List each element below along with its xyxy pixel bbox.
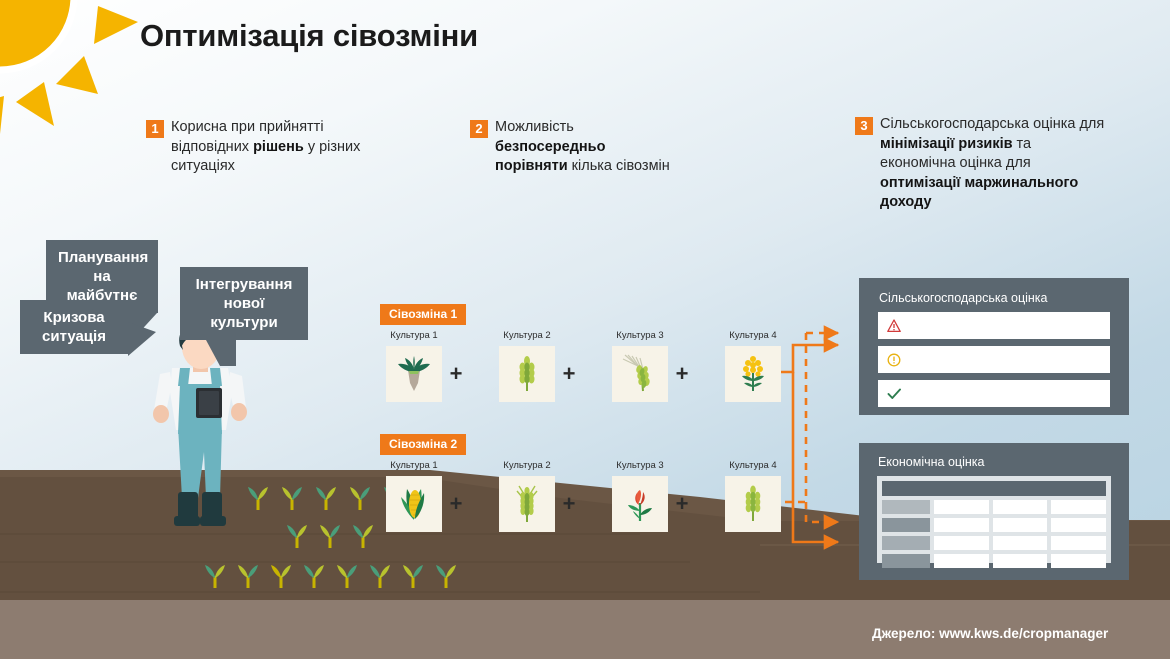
economic-row-label <box>882 536 930 550</box>
crop-cell-r1-c3[interactable]: Культура 3 <box>612 330 668 402</box>
crop-icon-box-r1-c2 <box>499 346 555 402</box>
crop-cell-r1-c2[interactable]: Культура 2 <box>499 330 555 402</box>
economic-cell <box>993 536 1048 550</box>
economic-cell <box>934 554 989 568</box>
crop-icon-box-r2-c1 <box>386 476 442 532</box>
crop-icon-box-r1-c4 <box>725 346 781 402</box>
rye-ear-icon <box>732 483 774 525</box>
wheat-ear-icon <box>506 353 548 395</box>
economic-cell <box>934 518 989 532</box>
table-row[interactable] <box>882 500 1106 514</box>
economic-cell <box>934 536 989 550</box>
crop-separator-r2-3: + <box>668 476 696 532</box>
economic-cell <box>993 500 1048 514</box>
crop-cell-r2-c3[interactable]: Культура 3 <box>612 460 668 532</box>
crop-label-r2-c4: Культура 4 <box>729 460 776 471</box>
rotation-badge-2: Сівозміна 2 <box>380 434 466 455</box>
connector-rotation2-solid <box>793 372 838 542</box>
economic-table-header <box>882 481 1106 496</box>
agronomic-row-warning[interactable] <box>878 312 1110 339</box>
economic-cell <box>934 500 989 514</box>
table-row[interactable] <box>882 554 1106 568</box>
economic-cell <box>993 518 1048 532</box>
sugar-beet-icon <box>393 353 435 395</box>
crop-separator-r1-1: + <box>442 346 470 402</box>
agronomic-evaluation-panel: Сільськогосподарська оцінка <box>859 278 1129 415</box>
economic-table[interactable] <box>877 476 1111 563</box>
economic-panel-title: Економічна оцінка <box>878 455 984 469</box>
crop-cell-r2-c1[interactable]: Культура 1 <box>386 460 442 532</box>
economic-row-label <box>882 554 930 568</box>
crop-label-r2-c3: Культура 3 <box>616 460 663 471</box>
crop-label-r1-c2: Культура 2 <box>503 330 550 341</box>
crop-label-r2-c1: Культура 1 <box>390 460 437 471</box>
crop-separator-r2-1: + <box>442 476 470 532</box>
crop-cell-r2-c2[interactable]: Культура 2 <box>499 460 555 532</box>
connector-rotation1-dashed <box>806 333 838 522</box>
crop-label-r1-c3: Культура 3 <box>616 330 663 341</box>
source-label: Джерело: www.kws.de/cropmanager <box>872 626 1108 641</box>
crop-icon-box-r1-c1 <box>386 346 442 402</box>
rapeseed-icon <box>732 353 774 395</box>
economic-row-label <box>882 518 930 532</box>
economic-cell <box>993 554 1048 568</box>
barley-ear-icon <box>619 353 661 395</box>
agronomic-rows <box>878 312 1110 414</box>
table-row[interactable] <box>882 536 1106 550</box>
crop-icon-box-r2-c3 <box>612 476 668 532</box>
maize-cob-icon <box>393 483 435 525</box>
agronomic-row-check[interactable] <box>878 380 1110 407</box>
crop-icon-box-r2-c2 <box>499 476 555 532</box>
check-mark-icon <box>887 387 902 401</box>
crop-cell-r1-c4[interactable]: Культура 4 <box>725 330 781 402</box>
economic-row-label <box>882 500 930 514</box>
crop-separator-r2-2: + <box>555 476 583 532</box>
crop-separator-r1-2: + <box>555 346 583 402</box>
crop-label-r1-c1: Культура 1 <box>390 330 437 341</box>
crop-cell-r1-c1[interactable]: Культура 1 <box>386 330 442 402</box>
crop-icon-box-r1-c3 <box>612 346 668 402</box>
crop-icon-box-r2-c4 <box>725 476 781 532</box>
table-row[interactable] <box>882 518 1106 532</box>
economic-evaluation-panel: Економічна оцінка <box>859 443 1129 580</box>
crop-cell-r2-c4[interactable]: Культура 4 <box>725 460 781 532</box>
infographic-canvas: Оптимізація сівозміни 1 Корисна при прий… <box>0 0 1170 659</box>
info-circle-icon <box>887 353 901 367</box>
crop-label-r1-c4: Культура 4 <box>729 330 776 341</box>
warning-triangle-icon <box>887 319 901 333</box>
economic-cell <box>1051 554 1106 568</box>
crop-separator-r1-3: + <box>668 346 696 402</box>
economic-cell <box>1051 518 1106 532</box>
rotation-row-2: Культура 1 + Культура 2 <box>386 460 781 532</box>
poppy-flower-icon <box>619 483 661 525</box>
agronomic-panel-title: Сільськогосподарська оцінка <box>879 291 1047 305</box>
rotation-row-1: Культура 1 + Культура 2 <box>386 330 781 402</box>
economic-cell <box>1051 536 1106 550</box>
agronomic-row-info[interactable] <box>878 346 1110 373</box>
crop-label-r2-c2: Культура 2 <box>503 460 550 471</box>
wheat-ear-icon <box>506 483 548 525</box>
economic-cell <box>1051 500 1106 514</box>
rotation-badge-1: Сівозміна 1 <box>380 304 466 325</box>
